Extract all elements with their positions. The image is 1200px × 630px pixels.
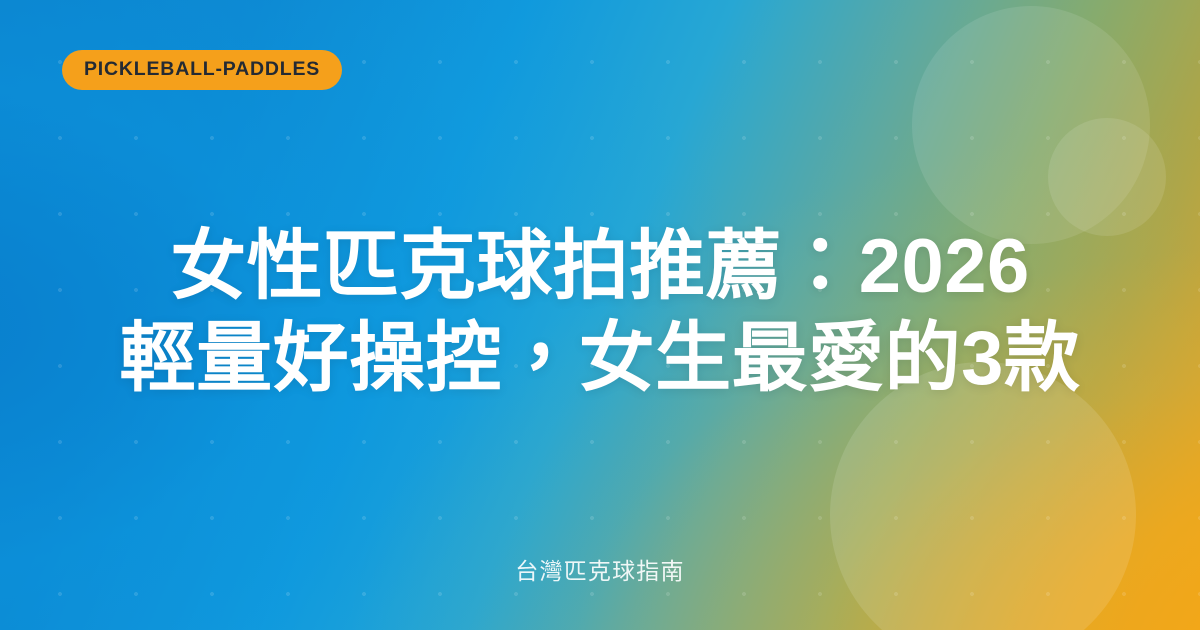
site-footer-label: 台灣匹克球指南 bbox=[515, 558, 684, 584]
og-card: PICKLEBALL-PADDLES 女性匹克球拍推薦：2026 輕量好操控，女… bbox=[0, 0, 1200, 630]
brand-badge: PICKLEBALL-PADDLES bbox=[62, 50, 342, 90]
site-footer: 台灣匹克球指南 bbox=[0, 558, 1200, 586]
page-title-line-2: 輕量好操控，女生最愛的3款 bbox=[120, 316, 1081, 401]
brand-badge-label: PICKLEBALL-PADDLES bbox=[84, 60, 320, 80]
page-title: 女性匹克球拍推薦：2026 輕量好操控，女生最愛的3款 bbox=[80, 221, 1120, 409]
page-title-line-1: 女性匹克球拍推薦：2026 bbox=[170, 224, 1030, 309]
card-content: PICKLEBALL-PADDLES 女性匹克球拍推薦：2026 輕量好操控，女… bbox=[0, 0, 1200, 630]
